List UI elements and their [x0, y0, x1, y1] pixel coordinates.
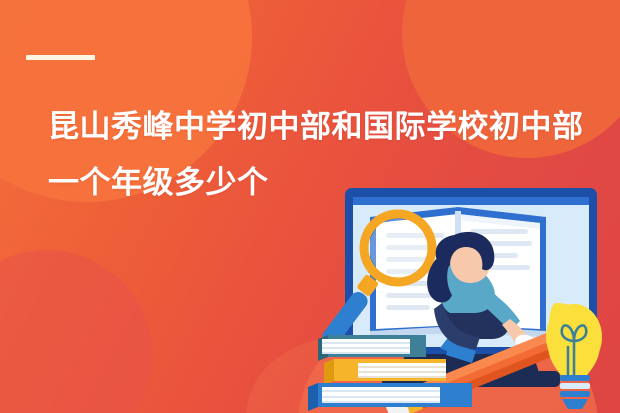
background-circle-lower-left	[0, 250, 152, 413]
lightbulb-base	[560, 375, 590, 409]
promo-banner: 昆山秀峰中学初中部和国际学校初中部一个年级多少个	[0, 0, 620, 413]
education-research-illustration	[300, 185, 620, 413]
decorative-dash	[26, 55, 95, 60]
lightbulb-icon	[546, 303, 602, 409]
